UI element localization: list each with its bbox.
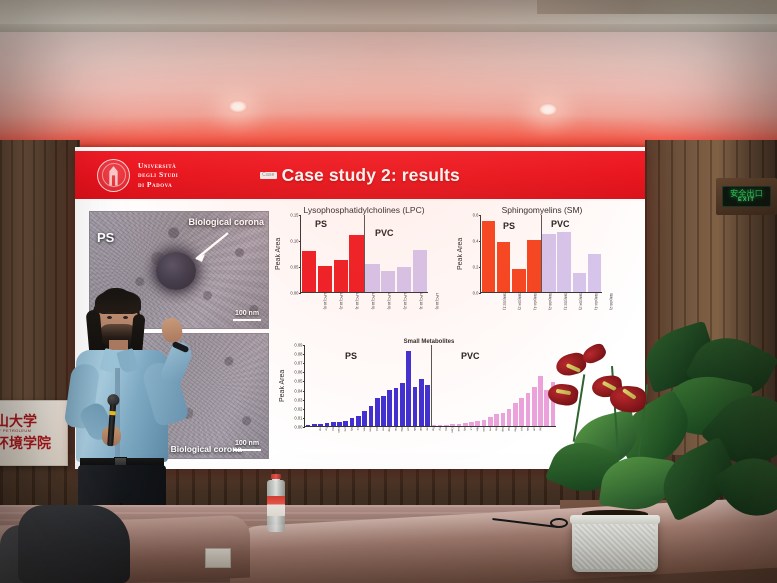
chart-yticks: 0.00.20.40.6 bbox=[464, 215, 480, 293]
chart-yticks: 0.000.010.020.030.040.050.060.070.080.09 bbox=[286, 345, 304, 427]
placard-line-1: 山大学 bbox=[0, 415, 67, 430]
chart-xticklabels: TrpTyrThrCarnLeuGlyCitMetAsnProAlaAspSer… bbox=[315, 427, 567, 449]
scalebar-line bbox=[233, 319, 261, 322]
ytick-label: 0.00 bbox=[294, 425, 302, 430]
chart-bar bbox=[394, 388, 399, 426]
chart-title: Lysophosphatidylcholines (LPC) bbox=[275, 205, 453, 215]
group-divider bbox=[431, 345, 432, 426]
chart-bar bbox=[350, 418, 355, 426]
presenter-shirt-placket bbox=[115, 368, 120, 460]
chart-small-metabolites: Small Metabolites Peak Area 0.000.010.02… bbox=[279, 339, 579, 449]
ytick-label: 0.15 bbox=[290, 213, 298, 218]
presenter-right-hand bbox=[160, 317, 183, 344]
xtick-label: LPC(18:2) bbox=[391, 293, 407, 329]
chart-bar bbox=[302, 251, 316, 292]
ytick-mark bbox=[479, 241, 482, 242]
chart-lpc: Lysophosphatidylcholines (LPC) Peak Area… bbox=[275, 205, 453, 329]
chart-bar bbox=[497, 242, 511, 292]
ytick-mark bbox=[479, 293, 482, 294]
anthurium-flower bbox=[547, 382, 580, 407]
chart-ylabel: Peak Area bbox=[279, 345, 286, 427]
chart-bar bbox=[482, 420, 487, 426]
scalebar-text: 100 nm bbox=[235, 310, 259, 317]
tem-annotation-label: Biological corona bbox=[188, 217, 264, 227]
chart-bar bbox=[557, 232, 571, 292]
chart-bar bbox=[369, 406, 374, 426]
chart-bar bbox=[532, 387, 537, 426]
ytick-label: 0.10 bbox=[290, 239, 298, 244]
ytick-label: 0.05 bbox=[290, 265, 298, 270]
ytick-mark bbox=[299, 215, 302, 216]
chart-bar bbox=[375, 398, 380, 426]
chart-bar bbox=[444, 425, 449, 426]
chart-ylabel: Peak Area bbox=[457, 215, 464, 293]
chart-bar bbox=[542, 234, 556, 292]
chart-bar bbox=[463, 423, 468, 426]
university-seal-icon bbox=[97, 159, 130, 192]
chart-bar bbox=[419, 379, 424, 426]
wall-socket bbox=[205, 548, 231, 568]
chart-bar bbox=[513, 403, 518, 426]
chart-title: Sphingomyelins (SM) bbox=[457, 205, 627, 215]
chart-sm: Sphingomyelins (SM) Peak Area 0.00.20.40… bbox=[457, 205, 627, 329]
ytick-mark bbox=[303, 372, 306, 373]
ytick-mark bbox=[299, 293, 302, 294]
plant-pot-rim bbox=[570, 515, 660, 524]
chart-bar bbox=[413, 250, 427, 292]
presenter-eyebrow bbox=[106, 312, 115, 314]
emergency-exit-sign: 安全出口 EXIT bbox=[722, 186, 771, 207]
chart-bar bbox=[469, 422, 474, 426]
chart-yticks: 0.000.050.100.15 bbox=[282, 215, 300, 293]
chart-bar bbox=[349, 235, 363, 292]
ytick-mark bbox=[303, 363, 306, 364]
microphone-band bbox=[109, 411, 115, 415]
xtick-label: LPC(16:0) bbox=[375, 293, 391, 329]
water-bottle bbox=[266, 474, 286, 532]
group-label-pvc: PVC bbox=[375, 228, 394, 238]
ytick-label: 0.02 bbox=[294, 406, 302, 411]
ceiling-spotlight bbox=[538, 103, 558, 116]
tem-scalebar-2: 100 nm bbox=[233, 440, 261, 451]
chart-bar bbox=[381, 396, 386, 426]
group-label-ps: PS bbox=[503, 221, 515, 231]
chart-bar bbox=[488, 417, 493, 426]
chart-bar bbox=[318, 424, 323, 426]
bottle-cap bbox=[271, 474, 281, 479]
ytick-label: 0.06 bbox=[294, 370, 302, 375]
chart-plot-area: PS PVC bbox=[304, 345, 556, 427]
chart-bar bbox=[387, 390, 392, 426]
chart-bar bbox=[588, 254, 602, 292]
tem-scalebar: 100 nm bbox=[233, 310, 261, 321]
anthurium-plant bbox=[548, 330, 777, 583]
ytick-label: 0.09 bbox=[294, 343, 302, 348]
ytick-mark bbox=[299, 241, 302, 242]
xtick-label: LPC(18:0) bbox=[423, 293, 439, 329]
chart-bar bbox=[331, 422, 336, 426]
xtick-label: LPC(16:0) bbox=[311, 293, 327, 329]
chart-bar bbox=[519, 398, 524, 426]
chart-bar bbox=[362, 411, 367, 426]
placard-line-3: 环境学院 bbox=[0, 437, 67, 452]
chart-bar bbox=[431, 425, 436, 426]
xtick-label: SM(d32:1) bbox=[491, 293, 506, 329]
presenter-eye bbox=[107, 316, 112, 319]
chart-bar bbox=[512, 269, 526, 292]
uni-line-2: degli Studi bbox=[138, 170, 178, 179]
xtick-label: SM(d34:1) bbox=[583, 293, 598, 329]
group-label-ps: PS bbox=[345, 351, 357, 361]
chart-bar bbox=[343, 421, 348, 426]
slide-logo: Università degli Studi di Padova bbox=[97, 159, 178, 192]
ytick-mark bbox=[479, 215, 482, 216]
ytick-label: 0.04 bbox=[294, 388, 302, 393]
slide-title-chip: Case bbox=[260, 172, 276, 179]
chart-bar bbox=[406, 351, 411, 426]
chart-bar bbox=[400, 383, 405, 426]
ytick-mark bbox=[299, 267, 302, 268]
ytick-label: 0.07 bbox=[294, 361, 302, 366]
chart-bar bbox=[312, 424, 317, 426]
chart-bar bbox=[356, 416, 361, 426]
ytick-mark bbox=[303, 409, 306, 410]
ytick-label: 0.01 bbox=[294, 415, 302, 420]
ytick-mark bbox=[303, 391, 306, 392]
xtick-label: LPC(18:1) bbox=[407, 293, 423, 329]
presenter-hair-top bbox=[95, 290, 141, 314]
chart-bar bbox=[450, 424, 455, 426]
ytick-mark bbox=[303, 345, 306, 346]
university-name: Università degli Studi di Padova bbox=[138, 161, 178, 188]
chart-bar bbox=[337, 422, 342, 426]
chart-bar bbox=[438, 425, 443, 426]
chart-bar bbox=[527, 240, 541, 292]
chart-bar bbox=[425, 385, 430, 426]
slide-title: Case study 2: results bbox=[282, 165, 460, 186]
chart-bar bbox=[494, 414, 499, 426]
ytick-label: 0.00 bbox=[290, 291, 298, 296]
photo-scene: 安全出口 EXIT 山大学 OF PETROLEUM 环境学院 Universi… bbox=[0, 0, 777, 583]
xtick-label: LPC(18:0) bbox=[359, 293, 375, 329]
chart-bar bbox=[475, 421, 480, 426]
backpack bbox=[18, 505, 130, 583]
chart-bar bbox=[306, 425, 311, 426]
ytick-mark bbox=[303, 354, 306, 355]
plant-pot bbox=[572, 518, 658, 572]
ceiling-tiles bbox=[537, 0, 777, 14]
chart-bar bbox=[507, 409, 512, 426]
chart-bar bbox=[365, 264, 379, 292]
chart-bar bbox=[334, 260, 348, 292]
tem-sample-label: PS bbox=[97, 230, 114, 245]
group-label-ps: PS bbox=[315, 219, 327, 229]
chart-bar bbox=[325, 423, 330, 426]
chart-bar bbox=[381, 271, 395, 292]
chart-bar bbox=[482, 221, 496, 293]
exit-sign-english: EXIT bbox=[738, 198, 755, 204]
xtick-label: LPC(18:1) bbox=[343, 293, 359, 329]
ceiling-spotlight bbox=[228, 100, 248, 113]
xtick-label: LPC(18:2) bbox=[327, 293, 343, 329]
chart-plot-area: PS PVC bbox=[480, 215, 602, 293]
chart-bar bbox=[526, 393, 531, 426]
institution-placard: 山大学 OF PETROLEUM 环境学院 bbox=[0, 400, 68, 466]
chart-bar bbox=[318, 266, 332, 292]
chart-bar bbox=[501, 413, 506, 426]
chart-xticklabels: LPC(16:0)LPC(18:2)LPC(18:1)LPC(18:0)LPC(… bbox=[311, 293, 439, 329]
xtick-label: SM(d34:1) bbox=[522, 293, 537, 329]
uni-line-1: Università bbox=[138, 161, 178, 170]
ytick-mark bbox=[303, 418, 306, 419]
ytick-label: 0.08 bbox=[294, 352, 302, 357]
scalebar-text: 100 nm bbox=[235, 440, 259, 447]
ceiling-soffit-red-glow bbox=[0, 32, 777, 147]
ytick-mark bbox=[479, 267, 482, 268]
xtick-label: SM(d32:1) bbox=[552, 293, 567, 329]
chart-bar bbox=[413, 387, 418, 426]
ytick-mark bbox=[303, 381, 306, 382]
scalebar-line bbox=[233, 449, 261, 452]
ytick-label: 0.03 bbox=[294, 397, 302, 402]
bottle-label bbox=[267, 496, 285, 516]
ytick-label: 0.05 bbox=[294, 379, 302, 384]
group-divider bbox=[541, 215, 542, 292]
group-label-pvc: PVC bbox=[551, 219, 570, 229]
xtick-label: SM(d36:2) bbox=[537, 293, 552, 329]
xtick-label: SM(d34:2) bbox=[506, 293, 521, 329]
chart-bar bbox=[538, 376, 543, 426]
chart-bar bbox=[457, 424, 462, 426]
presenter-eye bbox=[123, 316, 128, 319]
chart-ylabel: Peak Area bbox=[275, 215, 282, 293]
chart-plot-area: PS PVC bbox=[300, 215, 428, 293]
placard-line-2: OF PETROLEUM bbox=[0, 429, 67, 433]
chart-bar bbox=[397, 267, 411, 292]
xtick-label: SM(d34:2) bbox=[567, 293, 582, 329]
uni-line-3: di Padova bbox=[138, 180, 178, 189]
group-divider bbox=[364, 215, 365, 292]
ytick-mark bbox=[303, 427, 306, 428]
chart-xticklabels: SM(d32:1)SM(d34:2)SM(d34:1)SM(d36:2)SM(d… bbox=[491, 293, 613, 329]
slide-header-bar: Università degli Studi di Padova Case Ca… bbox=[75, 151, 645, 199]
chart-bar bbox=[573, 273, 587, 292]
group-label-pvc: PVC bbox=[461, 351, 480, 361]
presenter-eyebrow bbox=[122, 312, 131, 314]
xtick-label: SM(d36:2) bbox=[598, 293, 613, 329]
arrow-icon bbox=[186, 230, 232, 264]
ytick-mark bbox=[303, 400, 306, 401]
